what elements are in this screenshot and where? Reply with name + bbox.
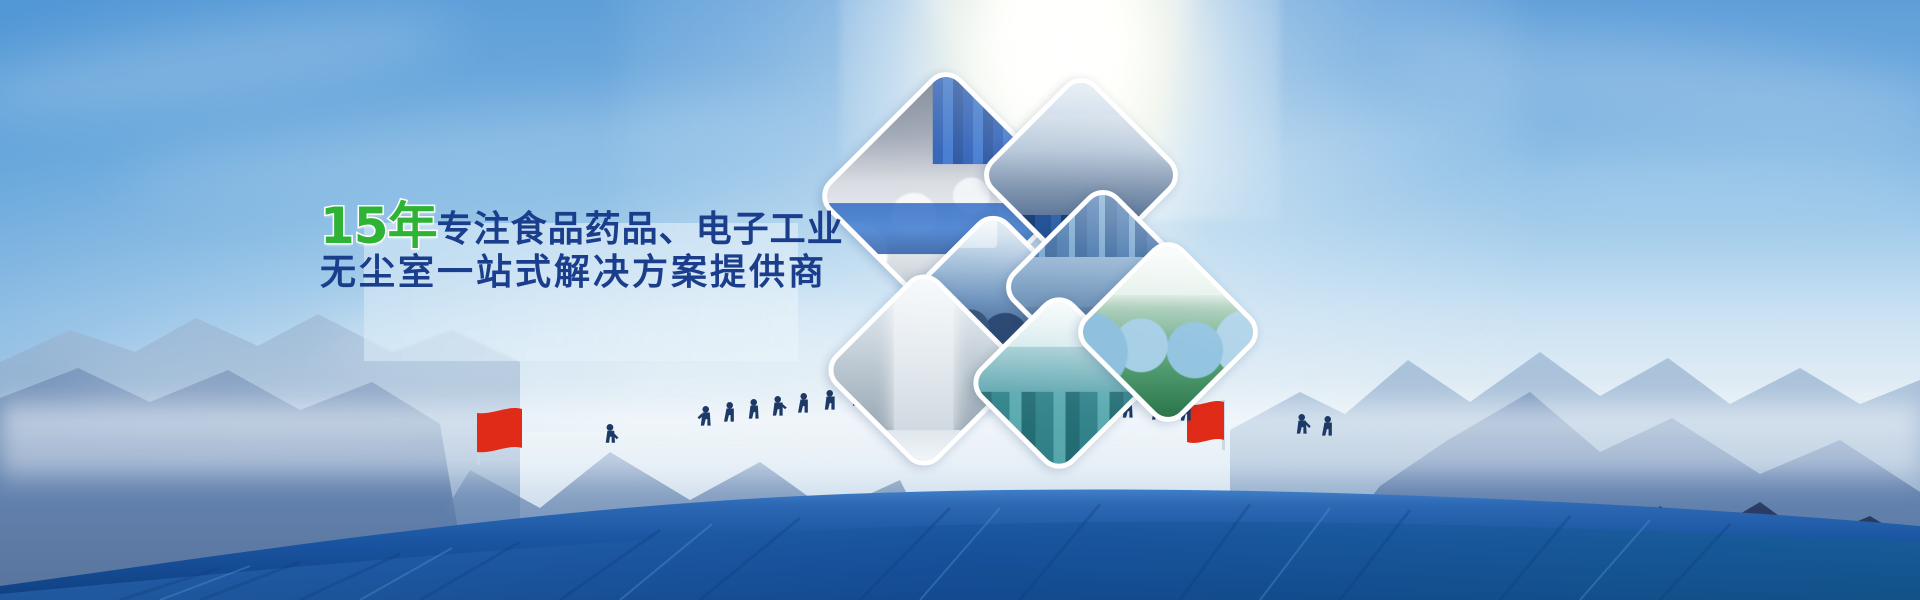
headline-line-2: 无尘室一站式解决方案提供商 <box>316 254 836 291</box>
red-flag-left <box>477 408 522 465</box>
headline-line-1: 15年专注食品药品、电子工业 <box>316 200 836 252</box>
headline-block: 15年专注食品药品、电子工业 无尘室一站式解决方案提供商 <box>316 200 836 291</box>
climber-group-left <box>606 424 619 443</box>
diamond-photo-collage <box>836 84 1288 464</box>
years-badge: 15年 <box>320 197 437 255</box>
headline-line-1-rest: 专注食品药品、电子工业 <box>437 209 844 250</box>
hero-banner: 15年专注食品药品、电子工业 无尘室一站式解决方案提供商 <box>0 0 1920 600</box>
